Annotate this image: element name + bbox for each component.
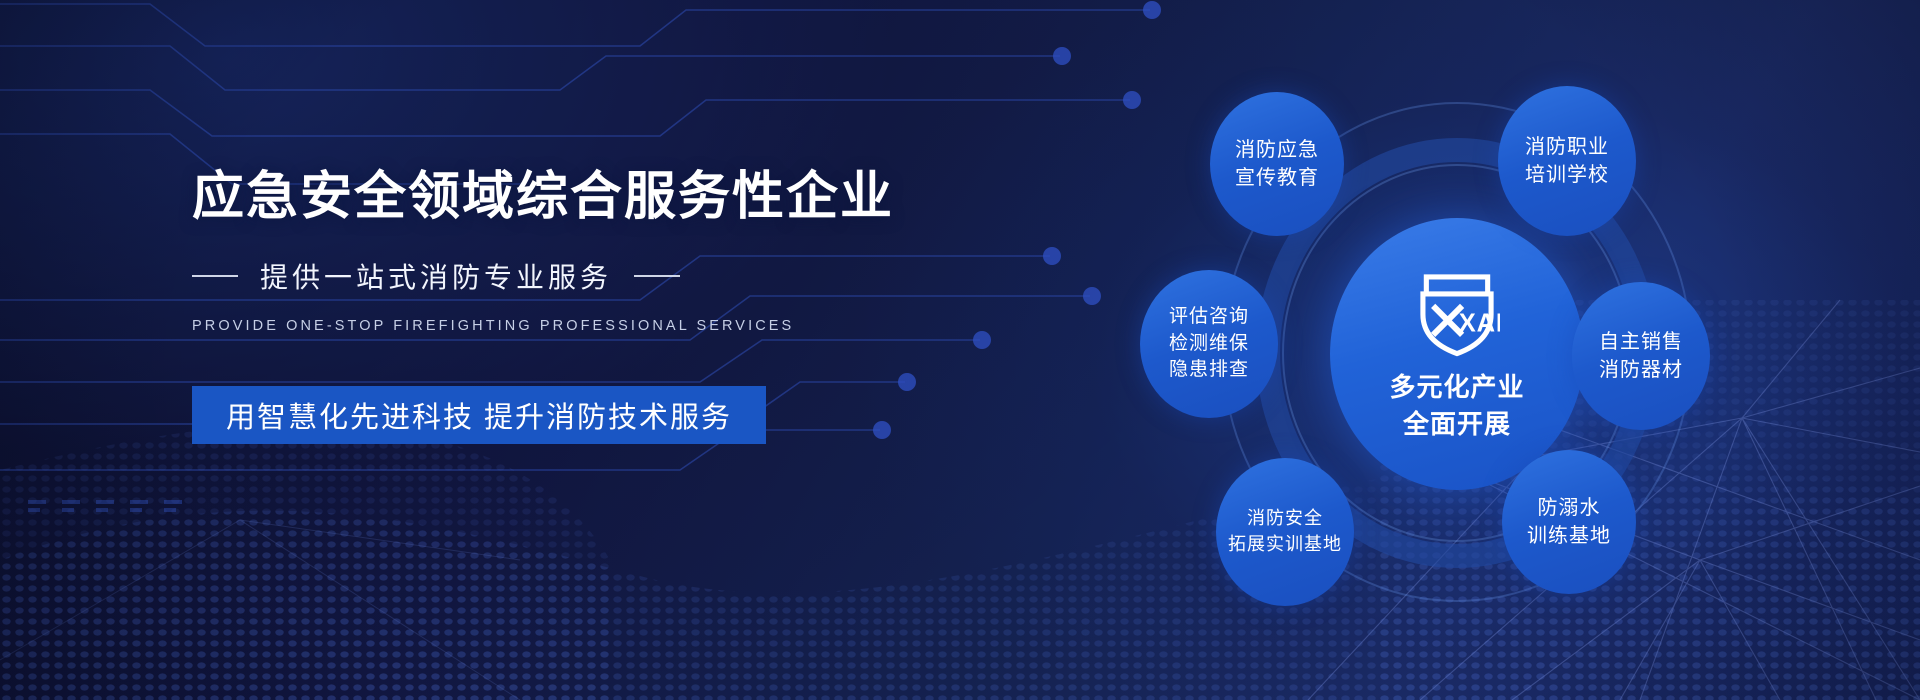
subtitle-row: 提供一站式消防专业服务 — [192, 256, 952, 296]
node-line2: 检测维保 — [1169, 331, 1249, 358]
hero-text-block: 应急安全领域综合服务性企业 提供一站式消防专业服务 PROVIDE ONE-ST… — [192, 168, 952, 444]
node-line1: 评估咨询 — [1169, 304, 1249, 331]
node-line2: 拓展实训基地 — [1228, 532, 1342, 558]
node-line1: 自主销售 — [1599, 328, 1683, 356]
dash-left-icon — [192, 275, 238, 277]
center-node[interactable]: XAN 多元化产业 全面开展 — [1330, 218, 1584, 490]
page-title: 应急安全领域综合服务性企业 — [192, 168, 952, 226]
subtitle: 提供一站式消防专业服务 — [260, 256, 612, 296]
hero-banner: 应急安全领域综合服务性企业 提供一站式消防专业服务 PROVIDE ONE-ST… — [0, 0, 1920, 700]
english-tagline: PROVIDE ONE-STOP FIREFIGHTING PROFESSION… — [192, 318, 952, 334]
node-line1: 消防应急 — [1235, 136, 1319, 164]
node-line2: 宣传教育 — [1235, 164, 1319, 192]
service-wheel-diagram: XAN 多元化产业 全面开展 消防应急 宣传教育 消防职业 培训学校 评估咨询 … — [1106, 46, 1806, 666]
node-assessment-service[interactable]: 评估咨询 检测维保 隐患排查 — [1140, 270, 1278, 418]
node-equipment-sales[interactable]: 自主销售 消防器材 — [1572, 282, 1710, 430]
node-line1: 消防安全 — [1247, 506, 1323, 532]
node-emergency-publicity[interactable]: 消防应急 宣传教育 — [1210, 92, 1344, 236]
center-node-line2: 全面开展 — [1403, 406, 1511, 443]
node-line2: 培训学校 — [1525, 161, 1609, 189]
logo-text: XAN — [1459, 310, 1500, 338]
node-anti-drowning-base[interactable]: 防溺水 训练基地 — [1502, 450, 1636, 594]
node-line3: 隐患排查 — [1169, 357, 1249, 384]
center-node-line1: 多元化产业 — [1389, 369, 1524, 406]
node-line1: 消防职业 — [1525, 133, 1609, 161]
node-training-base[interactable]: 消防安全 拓展实训基地 — [1216, 458, 1354, 606]
node-line2: 消防器材 — [1599, 356, 1683, 384]
shield-logo-icon: XAN — [1414, 265, 1500, 357]
node-line1: 防溺水 — [1538, 494, 1601, 522]
cta-button[interactable]: 用智慧化先进科技 提升消防技术服务 — [192, 386, 766, 444]
dash-right-icon — [634, 275, 680, 277]
node-vocational-school[interactable]: 消防职业 培训学校 — [1498, 86, 1636, 236]
node-line2: 训练基地 — [1527, 522, 1611, 550]
